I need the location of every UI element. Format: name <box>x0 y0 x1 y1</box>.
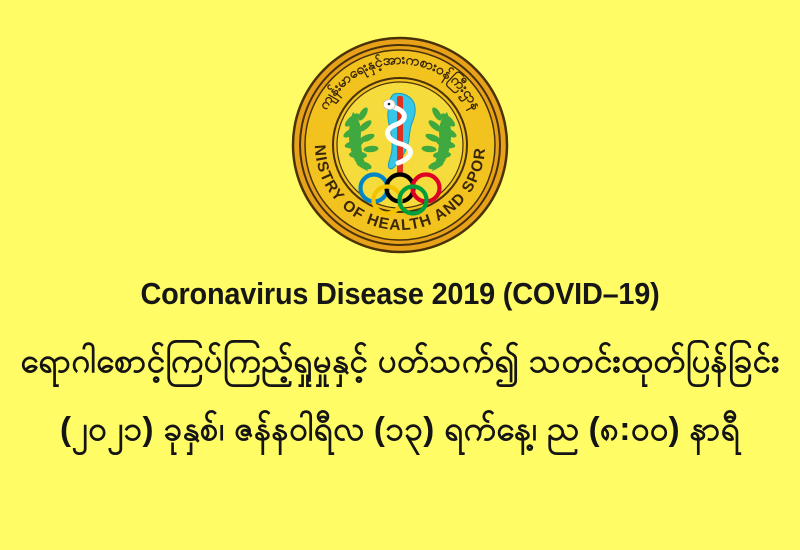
snake-eye-icon <box>388 103 391 106</box>
date-time-burmese: (၂၀၂၁) ခုနှစ်၊ ဇန်နဝါရီလ (၁၃) ရက်နေ့၊ ည … <box>0 398 800 460</box>
ministry-seal-logo: ကျန်းမာရေးနှင့်အားကစားဝန်ကြီးဌာန MINISTR… <box>291 36 509 254</box>
covid-announcement-poster: ကျန်းမာရေးနှင့်အားကစားဝန်ကြီးဌာန MINISTR… <box>0 0 800 550</box>
ministry-seal-svg: ကျန်းမာရေးနှင့်အားကစားဝန်ကြီးဌာန MINISTR… <box>291 36 509 254</box>
page-title-english: Coronavirus Disease 2019 (COVID–19) <box>28 276 772 312</box>
subtitle-burmese-surveillance: ရောဂါစောင့်ကြပ်ကြည့်ရှုမှုနှင့် ပတ်သက်၍ … <box>0 330 800 392</box>
